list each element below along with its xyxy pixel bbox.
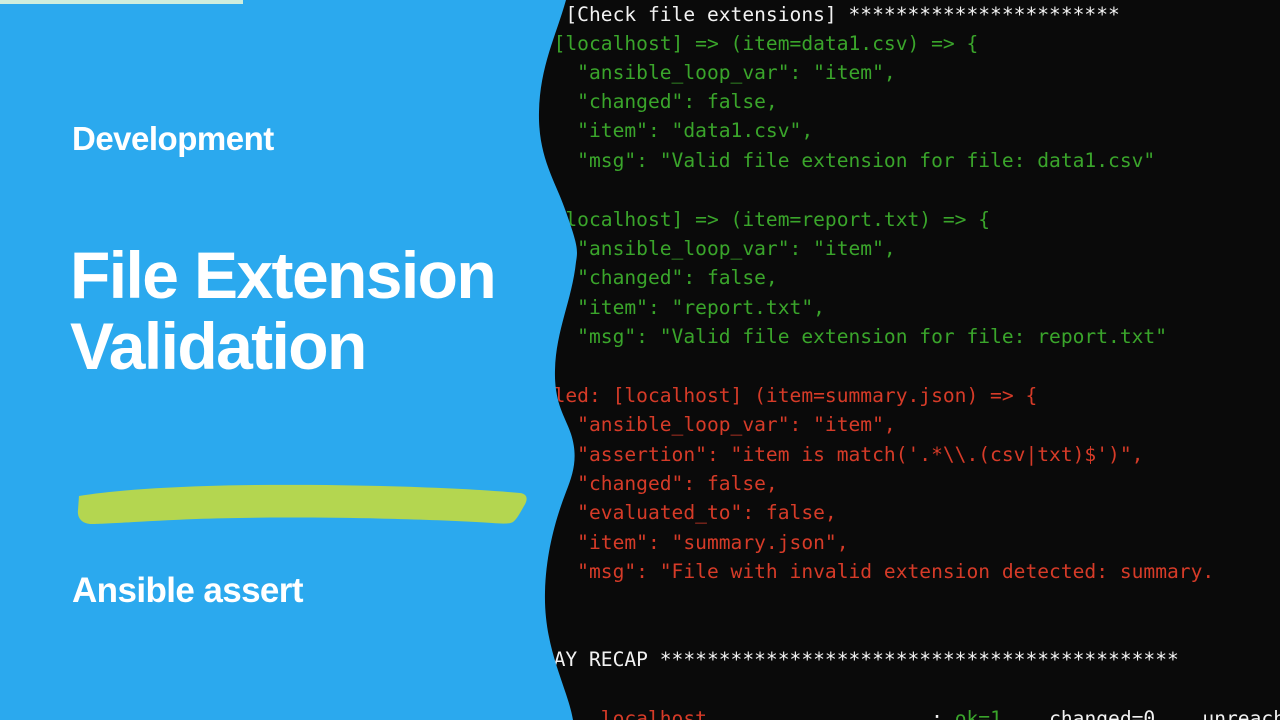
terminal-line: SK [Check file extensions] *************…: [530, 0, 1120, 29]
terminal-line: "msg": "Valid file extension for file: d…: [530, 146, 1155, 175]
recap-unreachable-count: unreachab: [1202, 707, 1280, 720]
terminal-line: "item": "summary.json",: [530, 528, 849, 557]
recap-changed-count: changed=0: [1049, 707, 1155, 720]
terminal-line: ailed: [localhost] (item=summary.json) =…: [530, 381, 1037, 410]
terminal-line: : [localhost] => (item=data1.csv) => {: [530, 29, 978, 58]
recap-spacer-2: [943, 707, 955, 720]
terminal-line: "ansible_loop_var": "item",: [530, 410, 896, 439]
terminal-line: "ansible_loop_var": "item",: [530, 58, 896, 87]
recap-spacer-4: [1155, 707, 1202, 720]
terminal-line: "evaluated_to": false,: [530, 498, 837, 527]
play-recap-header: PLAY RECAP *****************************…: [530, 645, 1179, 674]
play-recap-row: localhost : ok=1 changed=0 unreachab: [530, 675, 1280, 720]
terminal-line: "assertion": "item is match('.*\\.(csv|t…: [530, 440, 1143, 469]
recap-spacer-1: [707, 707, 931, 720]
category-label: Development: [72, 121, 274, 157]
terminal-line: "ansible_loop_var": "item",: [530, 234, 896, 263]
terminal-line: [localhost] => (item=report.txt) => {: [530, 205, 990, 234]
recap-host: localhost: [601, 707, 707, 720]
recap-spacer-3: [1002, 707, 1049, 720]
terminal-line: "msg": "Valid file extension for file: r…: [530, 322, 1167, 351]
top-accent-line: [0, 0, 243, 4]
brush-underline-icon: [76, 480, 528, 528]
terminal-line: "item": "report.txt",: [530, 293, 825, 322]
page-title: File Extension Validation: [70, 240, 540, 381]
terminal-line: "item": "data1.csv",: [530, 116, 813, 145]
terminal-line: "changed": false,: [530, 87, 778, 116]
module-subtitle: Ansible assert: [72, 571, 303, 611]
recap-ok-count: ok=1: [955, 707, 1002, 720]
slide-canvas: SK [Check file extensions] *************…: [0, 0, 1280, 720]
recap-separator: :: [931, 707, 943, 720]
terminal-line: "msg": "File with invalid extension dete…: [530, 557, 1214, 586]
